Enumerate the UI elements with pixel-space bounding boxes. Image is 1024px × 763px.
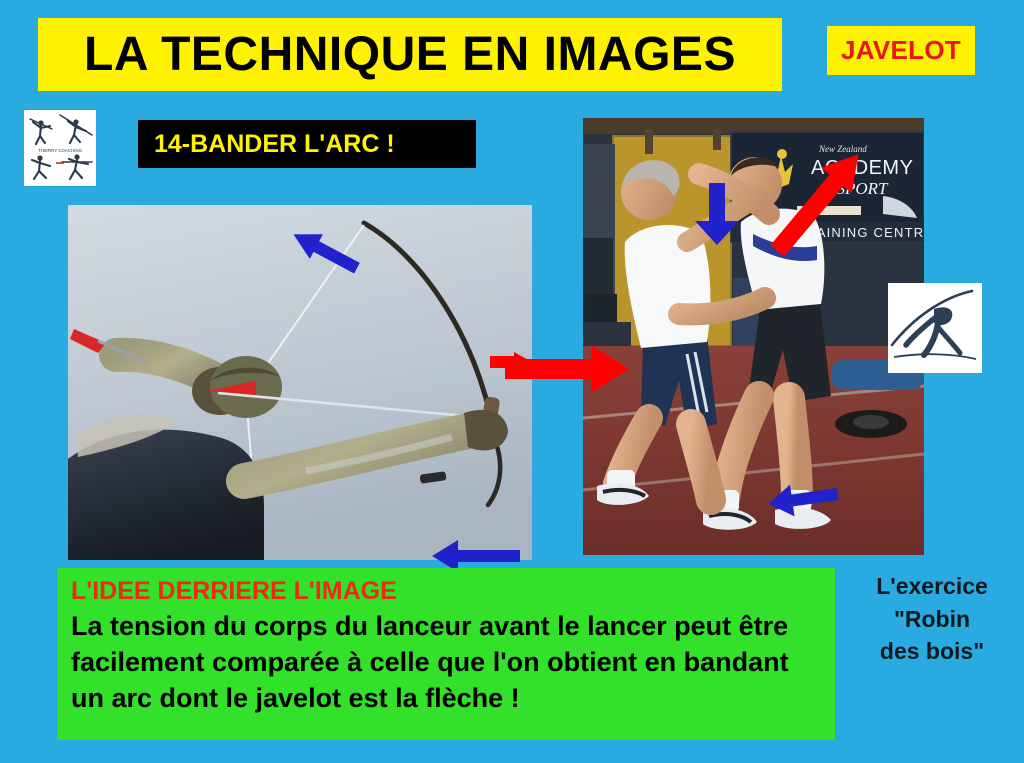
corner-logo-caption: THIERRY COACHING [38, 148, 83, 153]
exercise-caption: L'exercice "Robin des bois" [852, 570, 1012, 668]
exercise-caption-line-3: des bois" [852, 635, 1012, 668]
step-label-banner: 14-BANDER L'ARC ! [138, 120, 476, 168]
step-label: 14-BANDER L'ARC ! [154, 130, 395, 159]
javelin-coach-athlete-photo: New Zealand ACADEMY of SPORT TRAINING CE… [583, 118, 924, 555]
idea-callout-box: L'IDEE DERRIERE L'IMAGE La tension du co… [57, 568, 835, 740]
discipline-tag-label: JAVELOT [841, 35, 961, 66]
slide-title-banner: LA TECHNIQUE EN IMAGES [38, 18, 782, 91]
page-title: LA TECHNIQUE EN IMAGES [84, 31, 736, 79]
banner-academy-text: ACADEMY [811, 157, 913, 179]
archer-drawing-bow-photo [68, 205, 532, 560]
discipline-tag: JAVELOT [827, 26, 975, 75]
javelin-thrower-line-drawing-logo-icon [888, 283, 982, 373]
banner-sport-text: of SPORT [819, 179, 889, 198]
exercise-caption-line-2: "Robin [852, 603, 1012, 636]
banner-brand-prefix: New Zealand [818, 144, 867, 154]
exercise-caption-line-1: L'exercice [852, 570, 1012, 603]
idea-heading: L'IDEE DERRIERE L'IMAGE [71, 576, 821, 607]
athletics-stick-figures-logo-icon: THIERRY COACHING [24, 110, 96, 186]
idea-body-text: La tension du corps du lanceur avant le … [71, 609, 821, 717]
slide-canvas: LA TECHNIQUE EN IMAGES JAVELOT [0, 0, 1024, 763]
